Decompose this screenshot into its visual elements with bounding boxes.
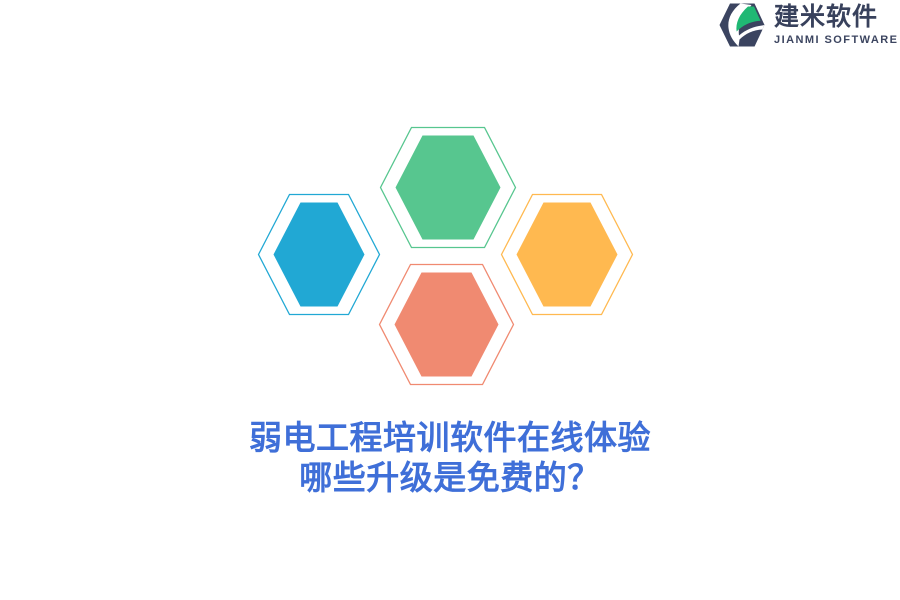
four-hexagon-cluster <box>250 115 650 400</box>
hexagon-salmon <box>380 265 514 385</box>
brand-subtitle: JIANMI SOFTWARE <box>774 35 898 46</box>
hexagon-orange <box>502 195 633 315</box>
page-title-line-2: 哪些升级是免费的？ <box>0 458 900 498</box>
brand-name: 建米软件 <box>774 4 898 30</box>
page-title-line-1: 弱电工程培训软件在线体验 <box>0 418 900 458</box>
hexagon-blue <box>259 195 380 315</box>
page-title: 弱电工程培训软件在线体验 哪些升级是免费的？ <box>0 418 900 498</box>
brand-text: 建米软件 JIANMI SOFTWARE <box>774 4 898 45</box>
jianmi-hexagon-leaf-logo-icon <box>718 2 766 48</box>
hexagon-green <box>381 128 516 248</box>
brand-logo: 建米软件 JIANMI SOFTWARE <box>718 0 900 50</box>
